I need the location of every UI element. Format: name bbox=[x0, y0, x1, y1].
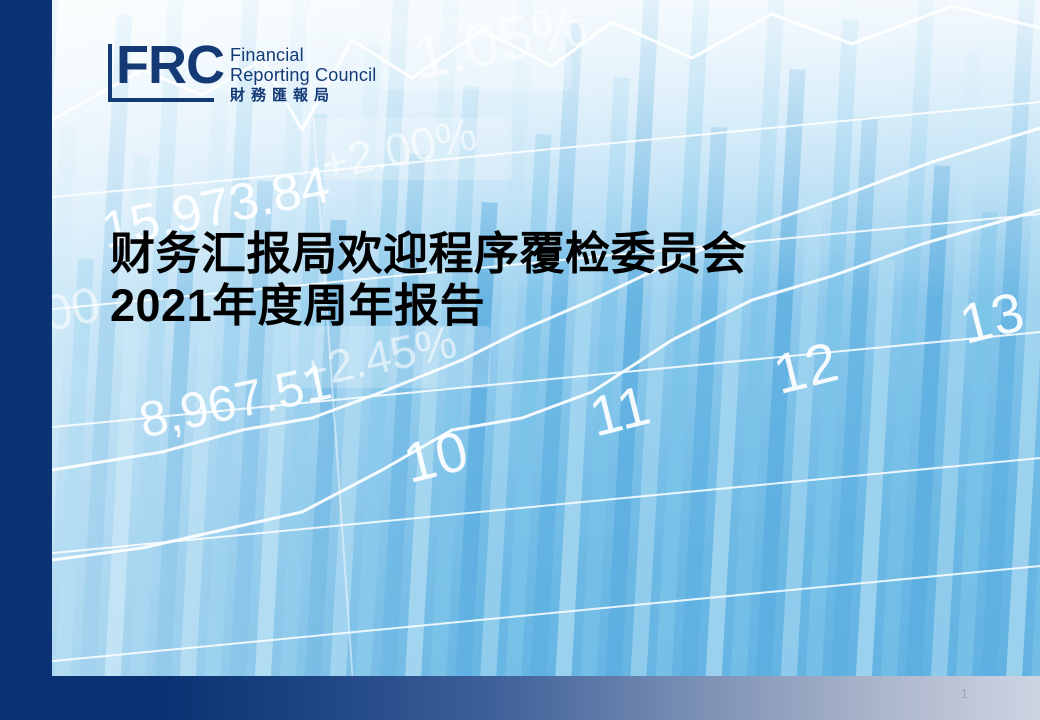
frc-logo-wordmark: Financial Reporting Council 財務匯報局 bbox=[230, 42, 376, 106]
title-line-1: 财务汇报局欢迎程序覆检委员会 bbox=[110, 228, 747, 280]
left-navy-band bbox=[0, 0, 52, 676]
presentation-slide: 1.05%+2.00%15,973.8400+2.45%8,967.511011… bbox=[0, 0, 1040, 720]
logo-letters: FRC bbox=[116, 38, 224, 92]
slide-footer: 1 bbox=[0, 676, 1040, 720]
logo-name-line2: Reporting Council bbox=[230, 65, 376, 85]
title-line-2: 2021年度周年报告 bbox=[110, 280, 747, 332]
logo-name-chinese: 財務匯報局 bbox=[230, 86, 376, 106]
logo-vertical-rule bbox=[108, 44, 112, 98]
logo-underline-rule bbox=[108, 98, 214, 102]
slide-title: 财务汇报局欢迎程序覆检委员会 2021年度周年报告 bbox=[110, 228, 747, 332]
frc-logo: FRC Financial Reporting Council 財務匯報局 bbox=[108, 42, 376, 106]
page-number: 1 bbox=[961, 686, 968, 701]
frc-logo-mark: FRC bbox=[108, 42, 220, 104]
logo-name-line1: Financial bbox=[230, 45, 376, 65]
